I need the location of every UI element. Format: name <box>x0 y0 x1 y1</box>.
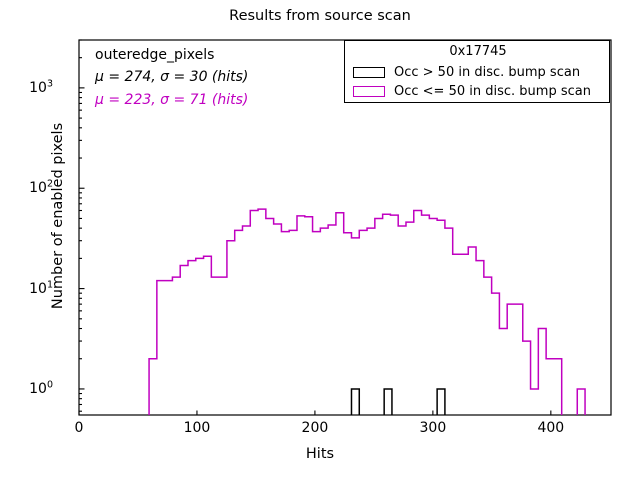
annotation-stat-black: μ = 274, σ = 30 (hits) <box>95 69 248 85</box>
legend-label-occ-gt-50: Occ > 50 in disc. bump scan <box>394 65 580 80</box>
legend-entry-occ-gt-50[interactable]: Occ > 50 in disc. bump scan <box>353 63 580 81</box>
series-occ-gt-50 <box>351 389 444 415</box>
x-tick-label: 0 <box>75 420 84 436</box>
annotation-module-name: outeredge_pixels <box>95 47 214 63</box>
annotation-stat-magenta: μ = 223, σ = 71 (hits) <box>95 92 248 108</box>
series-occ-le-50 <box>149 209 585 415</box>
y-tick-label: 101 <box>29 281 53 297</box>
legend-label-occ-le-50: Occ <= 50 in disc. bump scan <box>394 84 591 99</box>
legend-entry-occ-le-50[interactable]: Occ <= 50 in disc. bump scan <box>353 82 591 100</box>
x-tick-label: 100 <box>184 420 211 436</box>
legend-title: 0x17745 <box>345 44 611 59</box>
x-axis-label: Hits <box>0 446 640 462</box>
y-tick-label: 103 <box>29 80 53 96</box>
x-tick-label: 400 <box>537 420 564 436</box>
y-axis-label: Number of enabled pixels <box>50 66 66 366</box>
legend-swatch-black-icon <box>353 67 385 78</box>
figure-canvas: Results from source scan Hits Number of … <box>0 0 640 480</box>
x-tick-label: 200 <box>302 420 329 436</box>
y-tick-label: 100 <box>29 381 53 397</box>
y-tick-label: 102 <box>29 180 53 196</box>
legend: 0x17745 Occ > 50 in disc. bump scan Occ … <box>344 40 610 103</box>
x-tick-label: 300 <box>420 420 447 436</box>
legend-swatch-magenta-icon <box>353 86 385 97</box>
